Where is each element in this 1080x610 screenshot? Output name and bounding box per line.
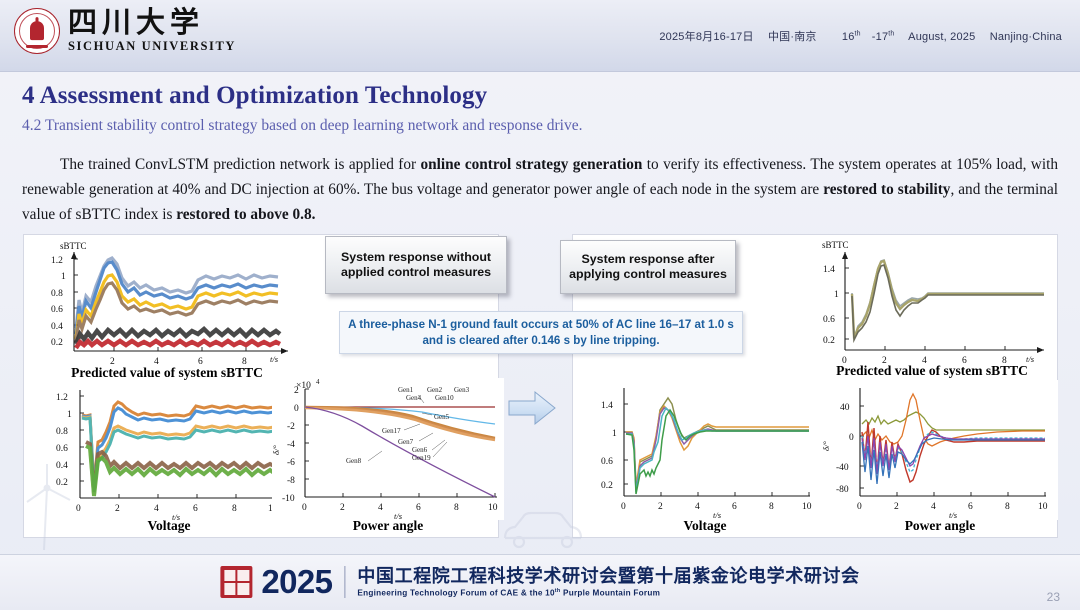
forum-seal-icon	[220, 566, 252, 598]
svg-text:40: 40	[840, 403, 850, 413]
svg-text:1: 1	[834, 290, 839, 300]
svg-text:0: 0	[294, 404, 299, 414]
svg-text:-8: -8	[287, 476, 295, 486]
svg-text:0.6: 0.6	[56, 444, 68, 454]
svg-text:8: 8	[1005, 502, 1010, 512]
svg-text:4: 4	[316, 378, 320, 386]
svg-text:1.2: 1.2	[51, 256, 63, 266]
svg-text:Gen1: Gen1	[398, 386, 414, 394]
svg-text:Gen17: Gen17	[382, 427, 401, 435]
university-name-cn: 四川大学	[68, 8, 236, 38]
sichuan-university-seal-icon	[14, 8, 60, 54]
caption-left-voltage: Voltage	[44, 518, 294, 534]
svg-text:Gen4: Gen4	[406, 394, 422, 402]
header-date-cn: 2025年8月16-17日	[659, 31, 753, 43]
svg-text:Gen2: Gen2	[427, 386, 443, 394]
transition-arrow-icon	[505, 386, 561, 430]
svg-text:4: 4	[154, 504, 159, 514]
slide-root: 四川大学 SICHUAN UNIVERSITY 2025年8月16-17日 中国…	[0, 0, 1080, 610]
svg-text:-4: -4	[287, 440, 295, 450]
footer-year: 2025	[261, 563, 332, 601]
caption-right-sbttc: Predicted value of system sBTTC	[812, 363, 1052, 379]
svg-text:0.8: 0.8	[51, 289, 63, 299]
svg-text:1: 1	[612, 429, 617, 439]
chart-right-voltage: 1.4 1 0.6 0.2 0 2 4 6 8 10 t/s	[588, 380, 822, 520]
svg-text:-40: -40	[836, 463, 849, 473]
svg-text:6: 6	[968, 502, 973, 512]
svg-text:Gen6: Gen6	[412, 446, 428, 454]
callout-fault-description: A three-phase N-1 ground fault occurs at…	[339, 311, 743, 354]
chart-left-voltage: 1.2 1 0.8 0.6 0.4 0.2 0 2 4 6 8 10 t/s	[44, 382, 294, 522]
svg-text:Gen3: Gen3	[454, 386, 470, 394]
slide-header: 四川大学 SICHUAN UNIVERSITY 2025年8月16-17日 中国…	[0, 0, 1080, 72]
footer-title-en: Engineering Technology Forum of CAE & th…	[357, 588, 859, 598]
chart-right-sbttc: sBTTC 1.4 1 0.6 0.2 0 2 4 6 8 t/s	[812, 236, 1052, 372]
svg-text:8: 8	[232, 504, 237, 514]
svg-text:-2: -2	[287, 422, 295, 432]
header-date-en: 16th-17th August, 2025	[831, 31, 976, 43]
chart-left-power-angle: ×10 4 2 0 -2 -4 -6 -8 -10 δ/° 0 2 4 6	[272, 378, 504, 520]
svg-text:2: 2	[115, 504, 120, 514]
svg-text:Gen10: Gen10	[435, 394, 454, 402]
svg-text:0.2: 0.2	[51, 338, 63, 348]
caption-right-voltage: Voltage	[588, 518, 822, 534]
svg-text:0.6: 0.6	[823, 315, 835, 325]
svg-text:1.4: 1.4	[823, 265, 835, 275]
body-paragraph: The trained ConvLSTM prediction network …	[22, 152, 1058, 227]
caption-left-power-angle: Power angle	[272, 518, 504, 534]
svg-text:Gen5: Gen5	[434, 413, 450, 421]
svg-text:2: 2	[894, 502, 899, 512]
svg-text:2: 2	[340, 503, 345, 513]
svg-text:0.6: 0.6	[601, 457, 613, 467]
svg-text:sBTTC: sBTTC	[822, 240, 849, 250]
svg-text:4: 4	[378, 503, 383, 513]
caption-right-power-angle: Power angle	[822, 518, 1058, 534]
svg-text:1: 1	[61, 272, 66, 282]
svg-text:Gen7: Gen7	[398, 438, 414, 446]
body-bold-1: online control strategy generation	[421, 156, 643, 173]
chart-left-sbttc: sBTTC 1.2 1 0.8 0.6 0.4 0.2 2 4 6 8 t/s	[42, 238, 302, 370]
svg-text:10: 10	[802, 502, 812, 512]
svg-text:6: 6	[416, 503, 421, 513]
svg-text:-6: -6	[287, 458, 295, 468]
caption-left-sbttc: Predicted value of system sBTTC	[42, 365, 292, 381]
page-subtitle: 4.2 Transient stability control strategy…	[22, 117, 582, 135]
slide-footer: 2025 中国工程院工程科技学术研讨会暨第十届紫金论电学术研讨会 Enginee…	[0, 554, 1080, 610]
svg-text:0.4: 0.4	[56, 461, 68, 471]
svg-text:8: 8	[769, 502, 774, 512]
svg-text:0.2: 0.2	[823, 336, 835, 346]
university-name-en: SICHUAN UNIVERSITY	[68, 39, 236, 54]
svg-text:8: 8	[454, 503, 459, 513]
svg-text:-10: -10	[282, 494, 295, 504]
svg-text:0: 0	[857, 502, 862, 512]
university-logo: 四川大学 SICHUAN UNIVERSITY	[14, 8, 236, 54]
footer-title-cn: 中国工程院工程科技学术研讨会暨第十届紫金论电学术研讨会	[357, 566, 859, 587]
callout-with-control: System response after applying control m…	[560, 240, 736, 294]
svg-text:10: 10	[488, 503, 498, 513]
svg-text:-80: -80	[836, 485, 849, 495]
svg-text:6: 6	[732, 502, 737, 512]
svg-text:Gen8: Gen8	[346, 457, 362, 465]
header-place-cn: 中国·南京	[768, 31, 817, 43]
svg-text:t/s: t/s	[270, 354, 279, 364]
callout-without-control: System response without applied control …	[325, 236, 507, 294]
footer-divider	[344, 566, 345, 598]
page-title: 4 Assessment and Optimization Technology	[22, 82, 487, 110]
svg-text:4: 4	[931, 502, 936, 512]
svg-text:0.2: 0.2	[601, 481, 613, 491]
svg-text:1.2: 1.2	[56, 393, 68, 403]
svg-text:0.4: 0.4	[51, 322, 63, 332]
svg-text:0: 0	[849, 433, 854, 443]
svg-text:2: 2	[294, 386, 299, 396]
svg-text:sBTTC: sBTTC	[60, 241, 87, 251]
body-bold-3: restored to above 0.8.	[176, 206, 315, 223]
header-event-meta: 2025年8月16-17日 中国·南京 16th-17th August, 20…	[648, 28, 1062, 44]
svg-text:4: 4	[695, 502, 700, 512]
page-number: 23	[1047, 590, 1060, 604]
body-seg-1: The trained ConvLSTM prediction network …	[60, 156, 421, 173]
svg-text:2: 2	[658, 502, 663, 512]
svg-text:10: 10	[1038, 502, 1048, 512]
svg-text:0: 0	[76, 504, 81, 514]
svg-text:6: 6	[193, 504, 198, 514]
chart-right-power-angle: 40 0 -40 -80 δ/° 0 2 4 6 8 10 t/s	[822, 380, 1058, 520]
svg-text:0.8: 0.8	[56, 427, 68, 437]
svg-text:Gen19: Gen19	[412, 454, 431, 462]
svg-text:0: 0	[302, 503, 307, 513]
body-bold-2: restored to stability	[823, 181, 950, 198]
svg-text:0: 0	[621, 502, 626, 512]
svg-text:δ/°: δ/°	[822, 441, 831, 451]
svg-text:1: 1	[67, 410, 72, 420]
svg-text:0.6: 0.6	[51, 305, 63, 315]
header-place-en: Nanjing·China	[990, 31, 1062, 43]
svg-text:0.2: 0.2	[56, 478, 68, 488]
svg-text:1.4: 1.4	[601, 401, 613, 411]
svg-text:δ/°: δ/°	[272, 445, 281, 455]
